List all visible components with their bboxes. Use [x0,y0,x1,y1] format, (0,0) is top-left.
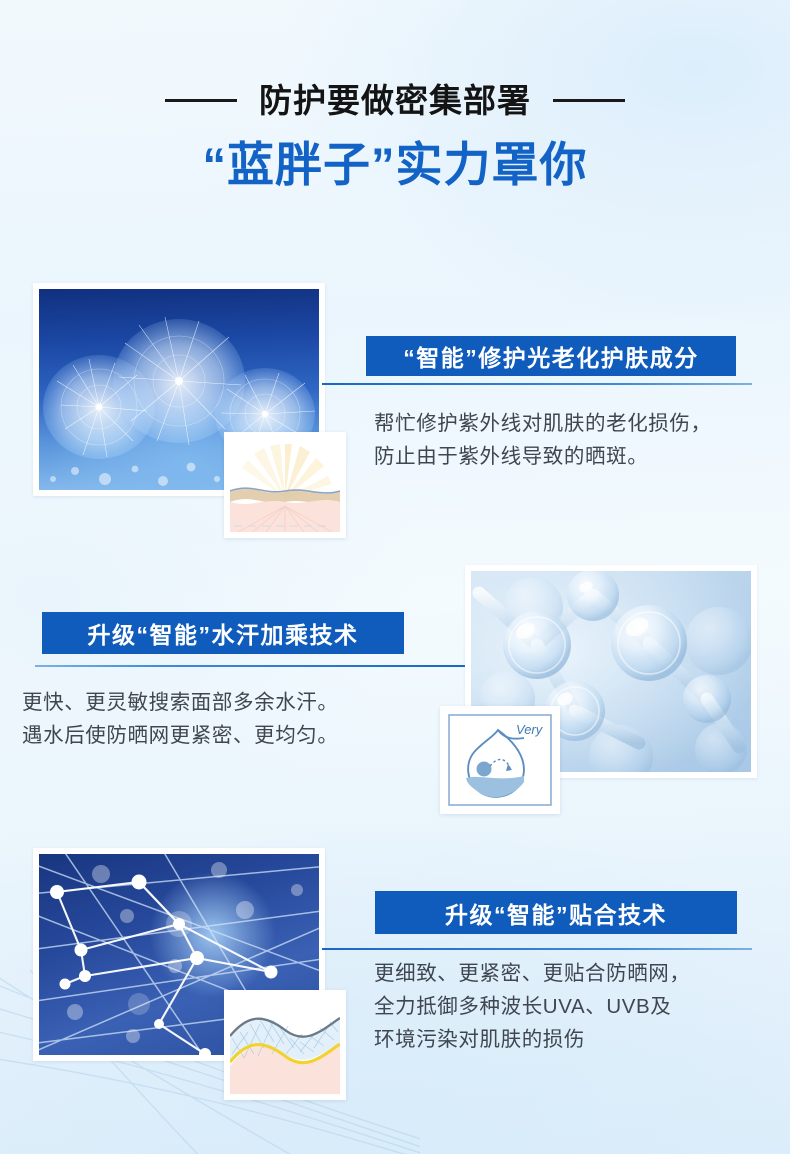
section3-banner-label: 升级“智能”贴合技术 [445,896,667,930]
section3-banner: 升级“智能”贴合技术 [375,891,737,934]
section1-inset-diagram [230,438,340,532]
section3-body: 更细致、更紧密、更贴合防晒网， 全力抵御多种波长UVA、UVB及 环境污染对肌肤… [374,957,774,1057]
section2-body: 更快、更灵敏搜索面部多余水汗。 遇水后使防晒网更紧密、更均匀。 [22,686,442,752]
section3-inset [224,990,346,1100]
kicker-row: 防护要做密集部署 [0,84,790,117]
inset-very-label: Very [516,722,544,737]
section1-body: 帮忙修护紫外线对肌肤的老化损伤， 防止由于紫外线导致的晒斑。 [374,407,764,473]
kicker-text: 防护要做密集部署 [259,84,531,117]
section2-rule [35,665,465,667]
kicker-dash-right [553,99,625,102]
page-title: “蓝胖子”实力罩你 [0,139,790,191]
section2-inset: Very [440,706,560,814]
section2-banner-label: 升级“智能”水汗加乘技术 [88,616,359,650]
section1-inset [224,432,346,538]
section2-inset-diagram: Very [446,712,554,808]
kicker-dash-left [165,99,237,102]
section3-rule [322,948,752,950]
section2-banner: 升级“智能”水汗加乘技术 [42,612,404,654]
page-header: 防护要做密集部署 “蓝胖子”实力罩你 [0,0,790,191]
section3-inset-diagram [230,996,340,1094]
section1-banner-label: “智能”修护光老化护肤成分 [403,339,699,373]
section1-banner: “智能”修护光老化护肤成分 [366,336,736,376]
section1-rule [322,383,752,385]
